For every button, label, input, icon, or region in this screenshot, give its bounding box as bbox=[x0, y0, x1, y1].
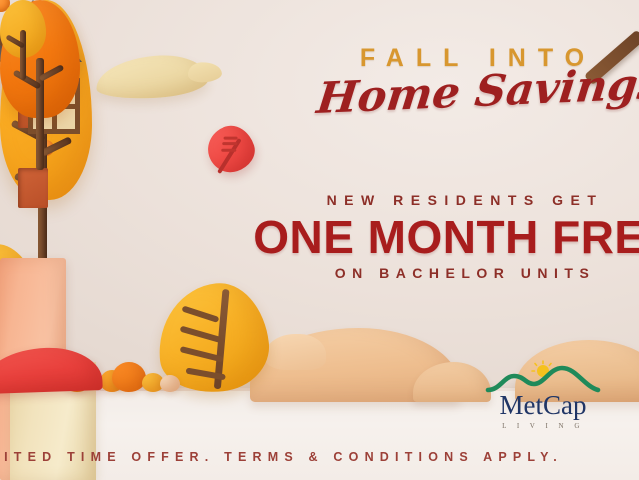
leaf-vein bbox=[222, 142, 237, 145]
offer-block: NEW RESIDENTS GET ONE MONTH FREE ON BACH… bbox=[250, 192, 639, 281]
leaf-vein bbox=[224, 137, 238, 140]
headline-block: FALL INTO Home Savings! bbox=[318, 44, 638, 117]
logo-mark bbox=[484, 360, 602, 394]
pumpkin bbox=[112, 362, 146, 392]
pumpkin bbox=[160, 375, 180, 392]
disclaimer-text: LIMITED TIME OFFER. TERMS & CONDITIONS A… bbox=[0, 450, 563, 464]
leaf-vein bbox=[221, 149, 236, 152]
hill-sun-icon bbox=[484, 360, 602, 394]
house-window bbox=[18, 168, 48, 208]
red-hill bbox=[0, 346, 103, 394]
offer-eyebrow: NEW RESIDENTS GET bbox=[250, 192, 639, 208]
logo-tagline: L I V I N G bbox=[484, 422, 602, 430]
red-leaf bbox=[202, 120, 260, 178]
promo-banner: FALL INTO Home Savings! NEW RESIDENTS GE… bbox=[0, 0, 639, 480]
leaf-vein bbox=[180, 326, 222, 343]
metcap-logo[interactable]: MetCap L I V I N G bbox=[484, 360, 602, 430]
tree-trunk bbox=[20, 30, 26, 80]
cream-cloud bbox=[95, 53, 209, 101]
offer-headline: ONE MONTH FREE bbox=[250, 213, 639, 263]
logo-wordmark: MetCap bbox=[484, 392, 602, 419]
offer-subline: ON BACHELOR UNITS bbox=[250, 265, 639, 281]
leaf-vein bbox=[181, 305, 219, 322]
